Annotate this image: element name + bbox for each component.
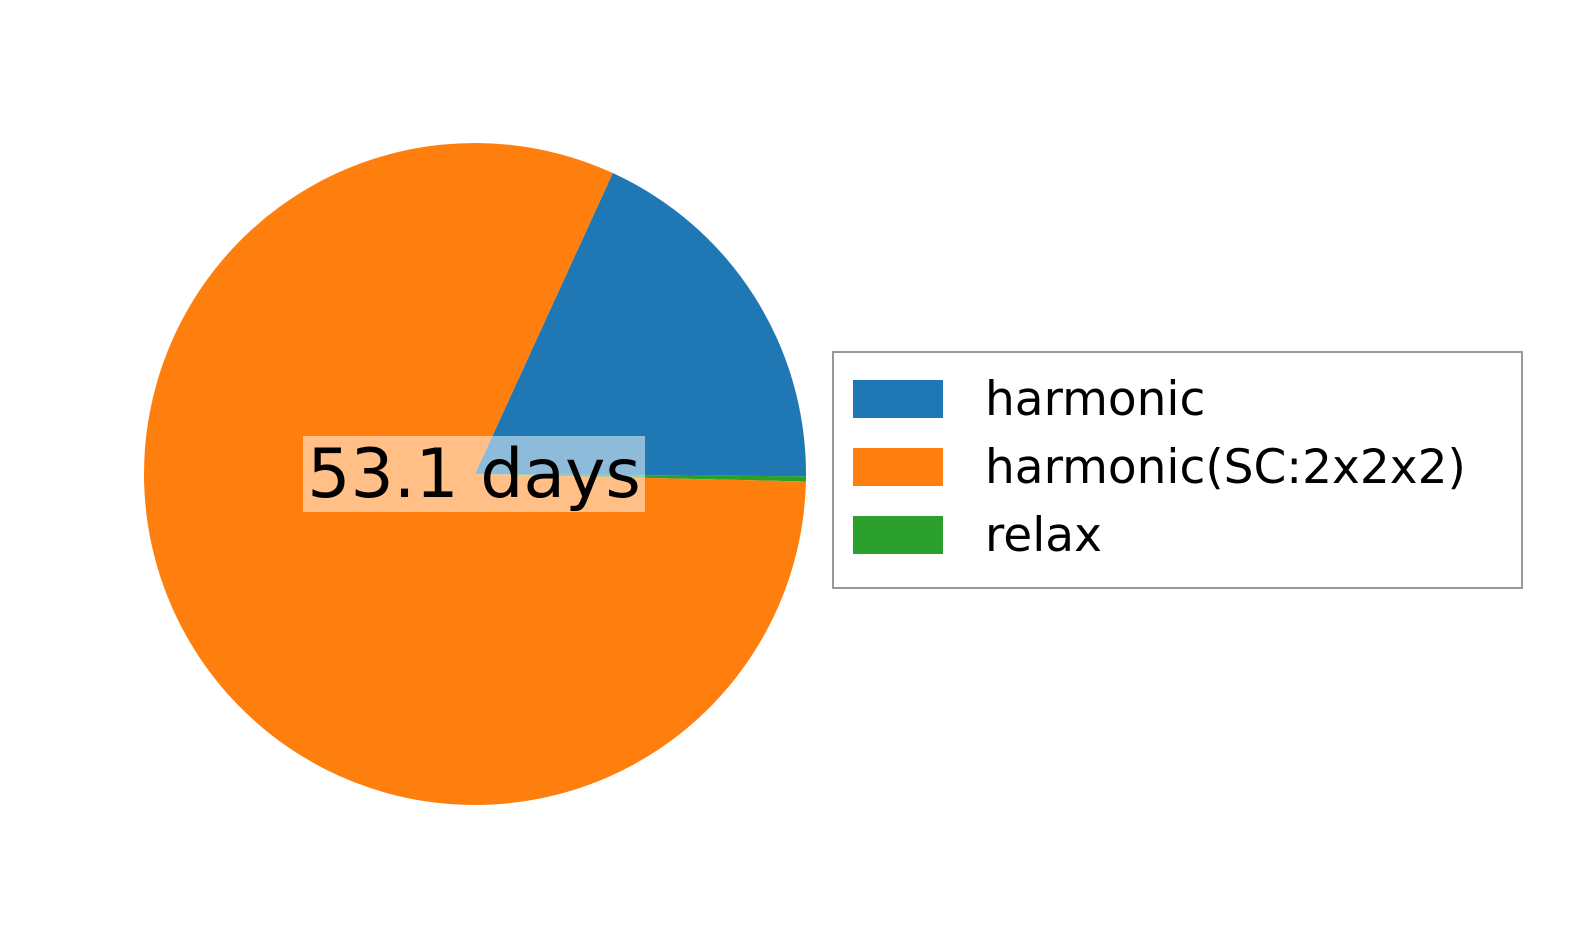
legend-swatch-harmonic — [853, 380, 943, 418]
pie-chart-figure: 53.1 days harmonic harmonic(SC:2x2x2) re… — [0, 0, 1584, 951]
center-annotation-label: 53.1 days — [303, 436, 645, 512]
legend-label-harmonic-sc222: harmonic(SC:2x2x2) — [985, 444, 1466, 491]
legend-item-harmonic-sc222[interactable]: harmonic(SC:2x2x2) — [834, 433, 1521, 501]
legend-box: harmonic harmonic(SC:2x2x2) relax — [832, 351, 1523, 589]
legend-swatch-relax — [853, 516, 943, 554]
legend-label-harmonic: harmonic — [985, 376, 1205, 423]
legend-label-relax: relax — [985, 512, 1102, 559]
legend-item-relax[interactable]: relax — [834, 501, 1521, 569]
legend-item-harmonic[interactable]: harmonic — [834, 365, 1521, 433]
legend-swatch-harmonic-sc222 — [853, 448, 943, 486]
